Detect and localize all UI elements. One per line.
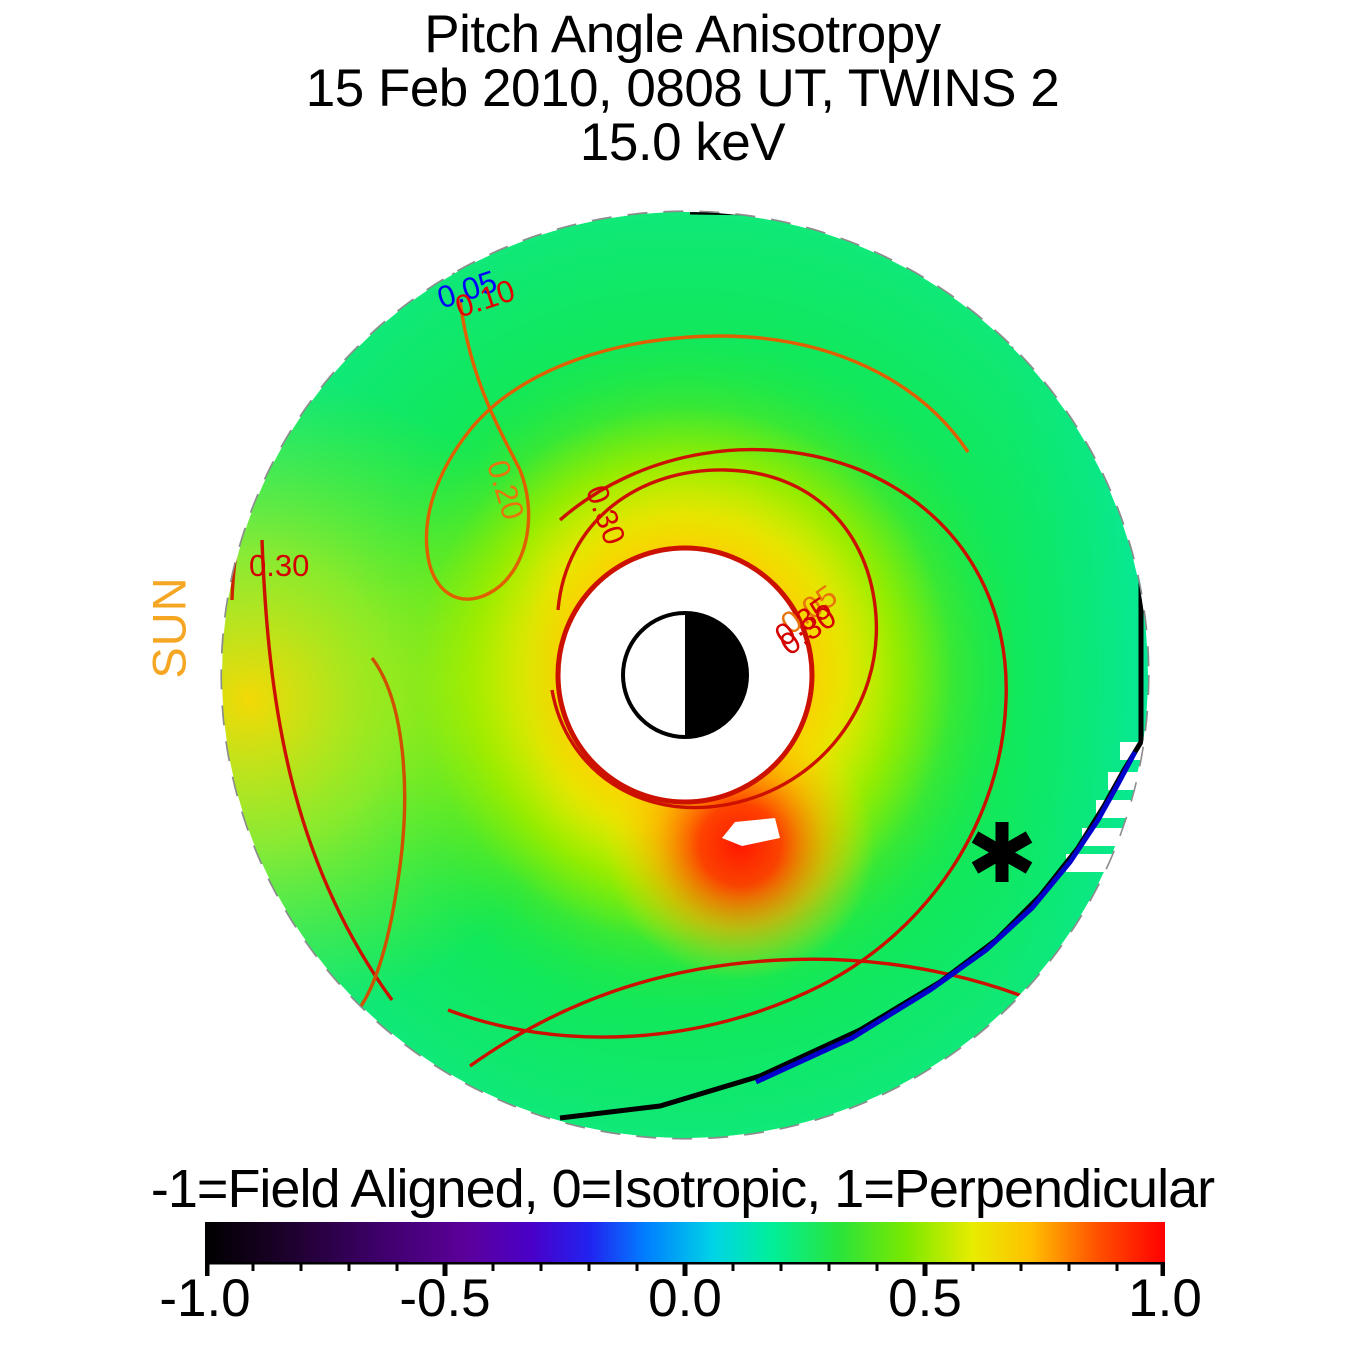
sun-direction-label: SUN xyxy=(142,576,197,678)
polar-plot-area: SUN 0.050.100.300.200.300.050.350.30 xyxy=(0,0,1365,1180)
colorbar-tick-label: -0.5 xyxy=(399,1268,490,1329)
colorbar-tick-label: 0.0 xyxy=(648,1268,722,1329)
colorbar-caption: -1=Field Aligned, 0=Isotropic, 1=Perpend… xyxy=(0,1158,1365,1220)
colorbar-tick-label: -1.0 xyxy=(159,1268,250,1329)
anisotropy-map xyxy=(0,0,1365,1180)
colorbar-tick-label: 0.5 xyxy=(888,1268,962,1329)
colorbar-tick-labels: -1.0-0.50.00.51.0 xyxy=(0,1268,1365,1338)
contour-label: 0.30 xyxy=(249,548,309,584)
colorbar-tick-label: 1.0 xyxy=(1128,1268,1202,1329)
earth-icon xyxy=(623,613,747,737)
colorbar-gradient xyxy=(205,1222,1165,1262)
colorbar[interactable] xyxy=(205,1222,1165,1262)
